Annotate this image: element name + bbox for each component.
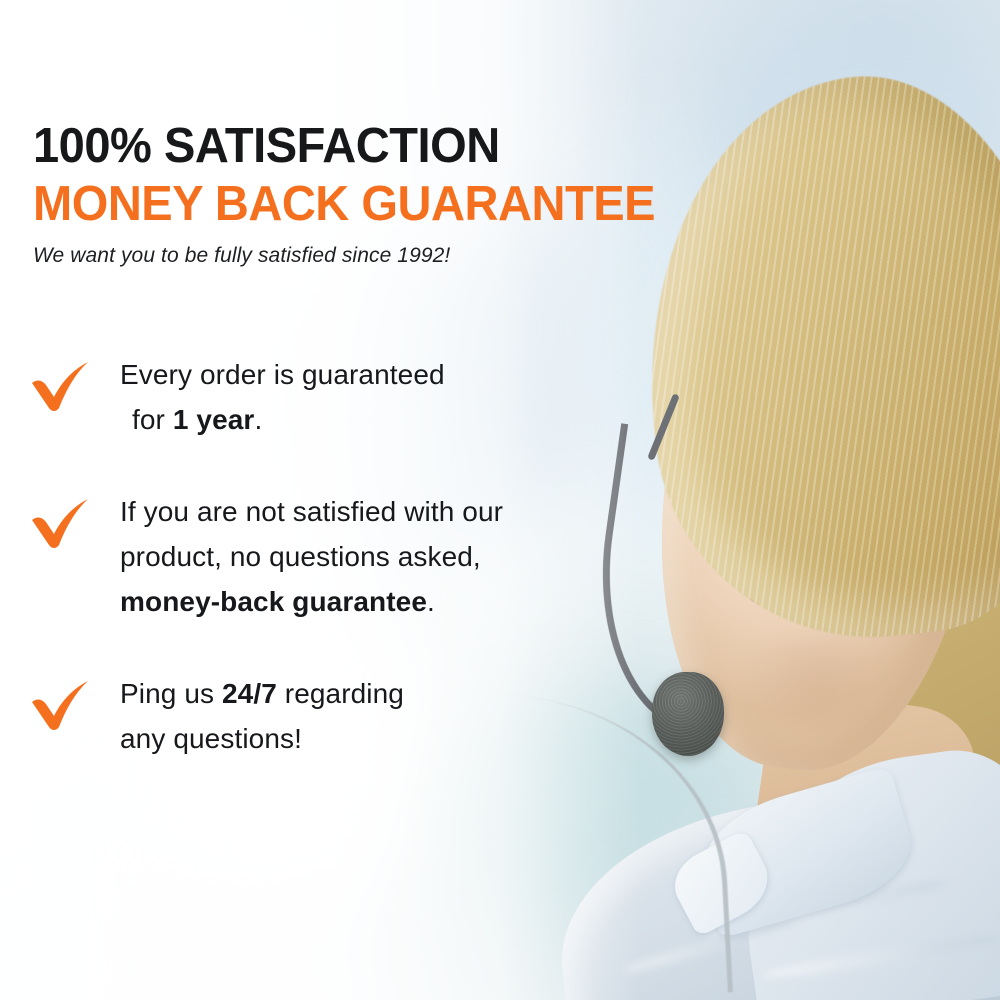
headline-primary: 100% SATISFACTION xyxy=(33,118,686,176)
benefit-text-bold: 1 year xyxy=(173,404,255,435)
benefit-line: money-back guarantee. xyxy=(120,579,503,624)
checkmark-icon xyxy=(28,495,94,551)
benefit-text-tail: . xyxy=(254,404,262,435)
benefit-text-plain: Ping us xyxy=(120,678,222,709)
benefit-text: Every order is guaranteed for 1 year. xyxy=(120,352,445,443)
benefit-item: If you are not satisfied with our produc… xyxy=(28,489,648,625)
benefit-line: Every order is guaranteed xyxy=(120,352,445,397)
benefit-line: for 1 year. xyxy=(120,397,445,442)
benefit-text: Ping us 24/7 regarding any questions! xyxy=(120,671,404,762)
benefit-text-plain: for xyxy=(132,404,173,435)
benefit-line: any questions! xyxy=(120,716,404,761)
benefit-text-tail: regarding xyxy=(277,678,404,709)
checkmark-icon xyxy=(28,677,94,733)
benefit-item: Every order is guaranteed for 1 year. xyxy=(28,352,648,443)
headline-secondary: MONEY BACK GUARANTEE xyxy=(33,176,686,234)
benefit-line: Ping us 24/7 regarding xyxy=(120,671,404,716)
benefit-line: If you are not satisfied with our xyxy=(120,489,503,534)
guarantee-banner: 100% SATISFACTION MONEY BACK GUARANTEE W… xyxy=(0,0,1000,1000)
banner-content: 100% SATISFACTION MONEY BACK GUARANTEE W… xyxy=(0,0,1000,1000)
headline-block: 100% SATISFACTION MONEY BACK GUARANTEE W… xyxy=(33,118,713,268)
benefit-line: product, no questions asked, xyxy=(120,534,503,579)
benefits-list: Every order is guaranteed for 1 year. If… xyxy=(28,352,648,762)
benefit-text: If you are not satisfied with our produc… xyxy=(120,489,503,625)
benefit-text-bold: 24/7 xyxy=(222,678,277,709)
benefit-text-tail: . xyxy=(427,586,435,617)
benefit-item: Ping us 24/7 regarding any questions! xyxy=(28,671,648,762)
tagline: We want you to be fully satisfied since … xyxy=(33,244,713,268)
benefit-text-bold: money-back guarantee xyxy=(120,586,427,617)
checkmark-icon xyxy=(28,358,94,414)
